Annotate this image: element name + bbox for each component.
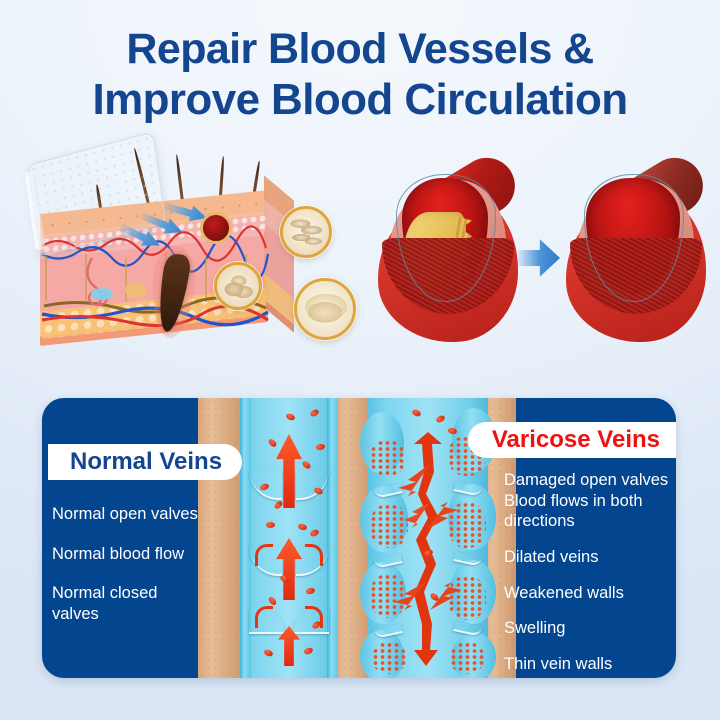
title-line-2: Improve Blood Circulation bbox=[0, 74, 720, 125]
red-blood-cell bbox=[301, 460, 312, 470]
healthy-artery-diagram bbox=[566, 168, 720, 358]
red-blood-cell bbox=[263, 649, 274, 658]
herb-fragments-inset bbox=[214, 262, 262, 310]
list-item: Normal blood flow bbox=[52, 544, 232, 565]
valve-flow-curl-icon bbox=[255, 544, 273, 566]
red-blood-cell bbox=[309, 408, 320, 418]
vein-comparison-panel: Normal Veins Varicose Veins Normal open … bbox=[42, 398, 676, 678]
red-blood-cell bbox=[285, 413, 296, 422]
normal-veins-label-text: Normal Veins bbox=[70, 448, 222, 476]
varicose-veins-label: Varicose Veins bbox=[468, 422, 676, 458]
red-blood-cell bbox=[297, 523, 307, 531]
list-item: Weakened walls bbox=[504, 583, 676, 604]
poster-canvas: Repair Blood Vessels & Improve Blood Cir… bbox=[0, 0, 720, 720]
blood-cell-inset bbox=[200, 212, 232, 244]
list-item: Swelling bbox=[504, 618, 676, 639]
list-item: valves bbox=[52, 604, 232, 625]
skin-cross-section-illustration bbox=[22, 150, 367, 375]
red-blood-cell bbox=[303, 647, 314, 656]
red-blood-cell bbox=[267, 596, 277, 607]
vein-wall-left bbox=[240, 398, 251, 678]
red-blood-cell bbox=[266, 522, 275, 528]
normal-veins-label: Normal Veins bbox=[48, 444, 242, 480]
normal-vein-diagram bbox=[240, 398, 338, 678]
normal-veins-list: Normal open valves Normal blood flow Nor… bbox=[52, 504, 232, 644]
title-line-1: Repair Blood Vessels & bbox=[0, 24, 720, 74]
list-item: Blood flows in both bbox=[504, 491, 676, 512]
red-blood-cell bbox=[309, 528, 320, 537]
list-item: Dilated veins bbox=[504, 547, 676, 568]
list-item: Normal open valves bbox=[52, 504, 232, 525]
page-title: Repair Blood Vessels & Improve Blood Cir… bbox=[0, 24, 720, 126]
list-item: directions bbox=[504, 511, 676, 532]
herb-root-slice-inset bbox=[294, 278, 356, 340]
list-item: Normal closed bbox=[52, 583, 232, 604]
valve-flow-curl-icon bbox=[255, 606, 273, 628]
list-item: Thin vein walls bbox=[504, 654, 676, 675]
varicose-veins-label-text: Varicose Veins bbox=[492, 426, 660, 454]
red-blood-cell bbox=[305, 587, 315, 595]
vein-valve bbox=[296, 470, 329, 500]
varicose-veins-list: Damaged open valves Blood flows in both … bbox=[504, 470, 676, 678]
red-blood-cell bbox=[267, 438, 278, 449]
red-blood-cell bbox=[273, 500, 284, 510]
list-item: Damaged open valves bbox=[504, 470, 676, 491]
vein-wall-right bbox=[327, 398, 338, 678]
red-blood-cell bbox=[316, 443, 326, 450]
herb-slices-inset bbox=[280, 206, 332, 258]
blocked-artery-diagram bbox=[378, 168, 538, 358]
